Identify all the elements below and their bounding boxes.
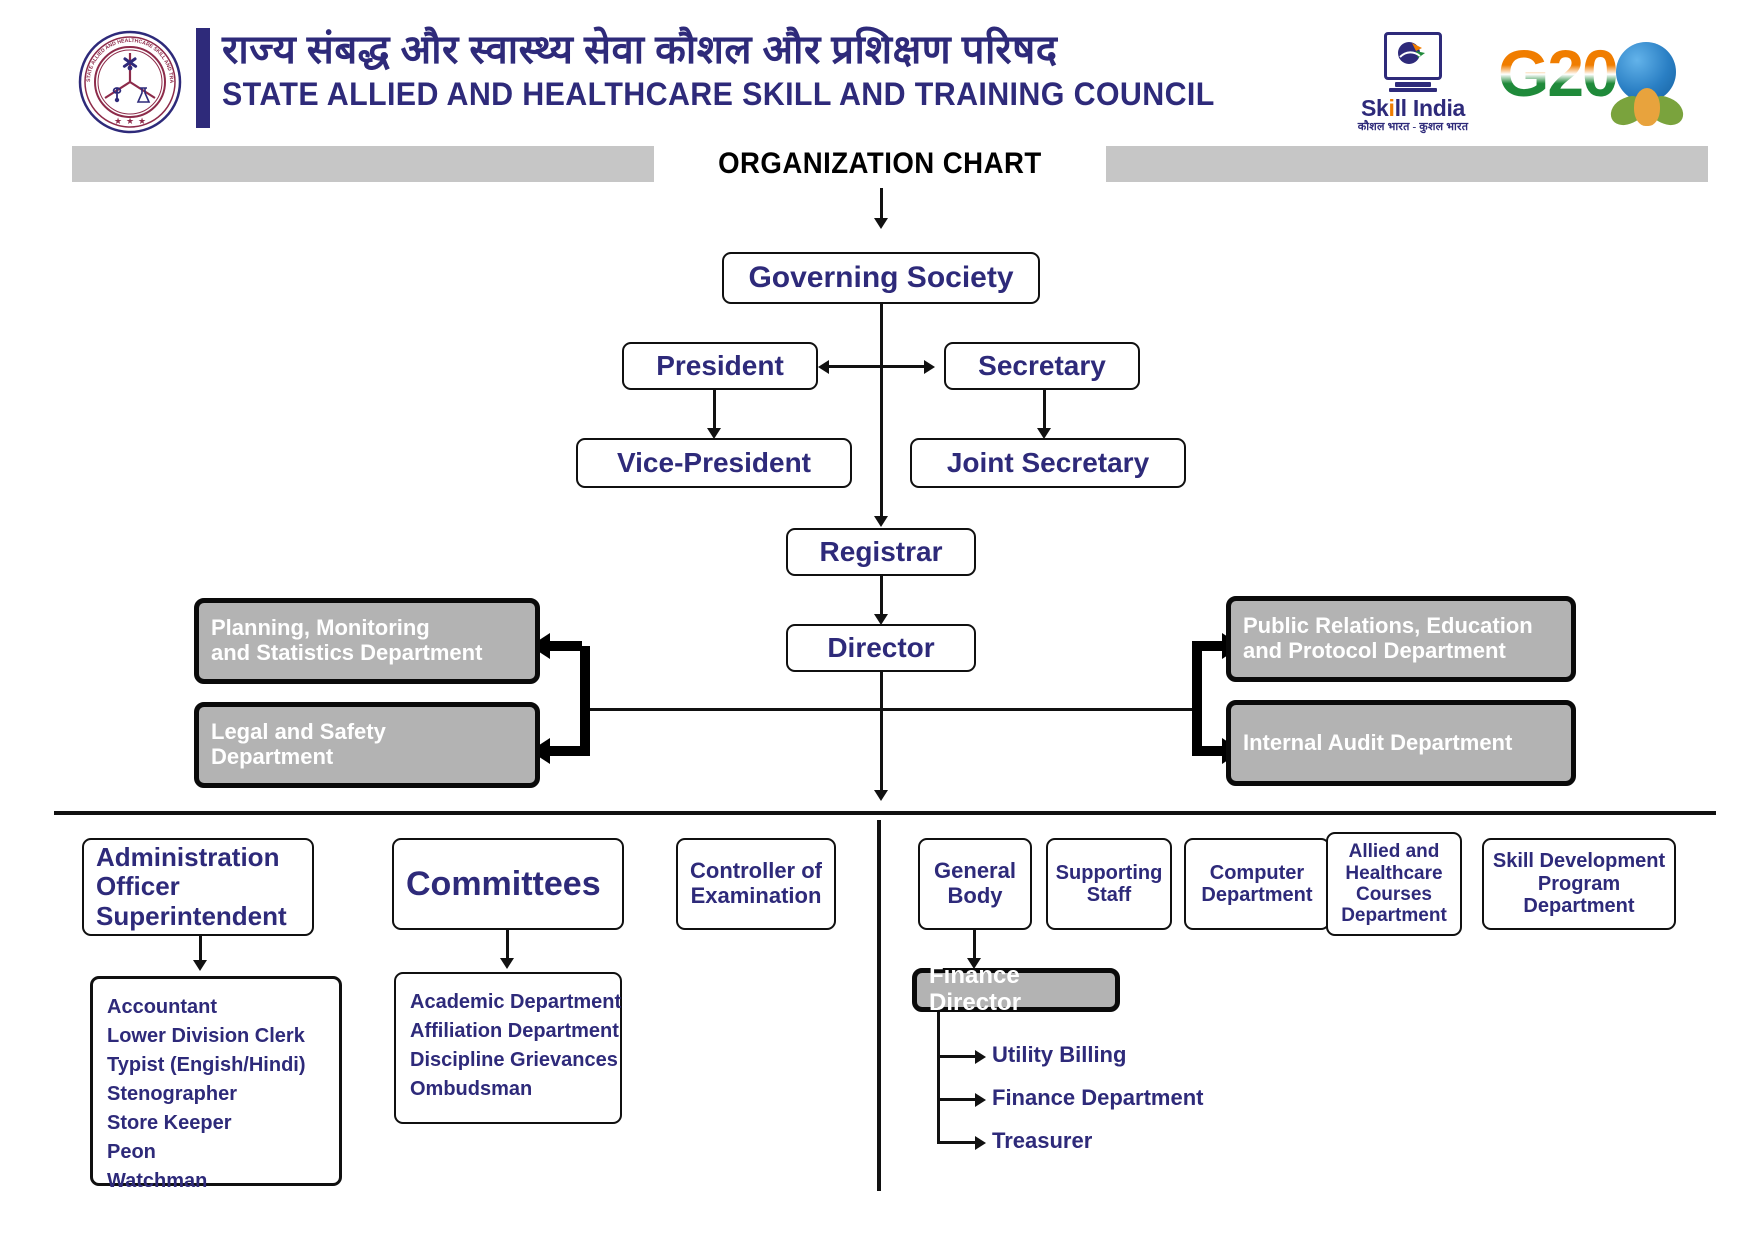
arrow-left-president bbox=[818, 360, 829, 374]
connector-band-to-governing bbox=[880, 188, 883, 220]
monitor-base bbox=[1389, 88, 1437, 92]
finance-item-finance-department[interactable]: Finance Department bbox=[992, 1085, 1204, 1111]
connector-left-elbow-vertical2 bbox=[580, 700, 590, 756]
svg-text:★: ★ bbox=[114, 116, 122, 126]
skill-dev-line2: Program Department bbox=[1484, 873, 1674, 918]
node-vice-president[interactable]: Vice-President bbox=[576, 438, 852, 488]
connector-branch-left bbox=[590, 708, 882, 711]
computer-dept-line2: Department bbox=[1201, 884, 1312, 906]
supporting-staff-line2: Staff bbox=[1056, 884, 1163, 906]
list-item: Typist (Engish/Hindi) bbox=[107, 1051, 306, 1080]
node-computer-department[interactable]: Computer Department bbox=[1184, 838, 1330, 930]
skill-india-logo: Skill India कौशल भारत - कुशल भारत bbox=[1348, 32, 1478, 136]
list-item: Ombudsman bbox=[410, 1075, 621, 1104]
finance-director-label: Finance Director bbox=[929, 963, 1115, 1017]
node-skill-development-program-department[interactable]: Skill Development Program Department bbox=[1482, 838, 1676, 930]
admin-officer-line1: Administration bbox=[96, 843, 287, 872]
list-item: Peon bbox=[107, 1138, 306, 1167]
node-registrar[interactable]: Registrar bbox=[786, 528, 976, 576]
list-item: Academic Department bbox=[410, 988, 621, 1017]
connector-finance-spine bbox=[937, 1012, 940, 1144]
planning-dept-line2: and Statistics Department bbox=[211, 641, 482, 666]
list-item: Discipline Grievances bbox=[410, 1046, 621, 1075]
arrow-right-secretary bbox=[924, 360, 935, 374]
connector-governing-spine bbox=[880, 304, 883, 520]
allied-courses-line1: Allied and bbox=[1341, 841, 1447, 862]
controller-line1: Controller of bbox=[690, 859, 822, 884]
finance-item-treasurer[interactable]: Treasurer bbox=[992, 1128, 1092, 1154]
connector-secretary-jointsecretary bbox=[1043, 390, 1046, 432]
connector-president-vicepresident bbox=[713, 390, 716, 432]
svg-text:★: ★ bbox=[138, 116, 146, 126]
list-item: Accountant bbox=[107, 993, 306, 1022]
general-body-line2: Body bbox=[934, 884, 1016, 909]
title-block: राज्य संबद्ध और स्वास्थ्य सेवा कौशल और प… bbox=[222, 26, 1242, 114]
arrow-down-committee-list bbox=[500, 958, 514, 969]
connector-left-elbow-top bbox=[548, 641, 582, 651]
list-item: Stenographer bbox=[107, 1080, 306, 1109]
title-accent-bar bbox=[196, 28, 210, 128]
connector-right-elbow-top bbox=[1192, 641, 1226, 651]
connector-branch-right bbox=[880, 708, 1202, 711]
node-president[interactable]: President bbox=[622, 342, 818, 390]
arrow-right-finance-department bbox=[975, 1093, 986, 1107]
connector-director-spine bbox=[880, 672, 883, 794]
general-body-line1: General bbox=[934, 859, 1016, 884]
finance-item-utility-billing[interactable]: Utility Billing bbox=[992, 1042, 1126, 1068]
svg-text:★: ★ bbox=[126, 116, 134, 126]
section-divider-horizontal bbox=[54, 811, 1716, 815]
administration-staff-items: Accountant Lower Division Clerk Typist (… bbox=[93, 979, 306, 1196]
controller-line2: Examination bbox=[690, 884, 822, 909]
supporting-staff-line1: Supporting bbox=[1056, 862, 1163, 884]
allied-courses-line4: Department bbox=[1341, 905, 1447, 926]
connector-left-elbow-bottom bbox=[548, 746, 582, 756]
node-allied-healthcare-courses-department[interactable]: Allied and Healthcare Courses Department bbox=[1326, 832, 1462, 936]
node-internal-audit-department[interactable]: Internal Audit Department bbox=[1226, 700, 1576, 786]
title-english: STATE ALLIED AND HEALTHCARE SKILL AND TR… bbox=[222, 74, 1191, 114]
node-finance-director[interactable]: Finance Director bbox=[912, 968, 1120, 1012]
monitor-stand bbox=[1395, 82, 1431, 87]
monitor-icon bbox=[1384, 32, 1442, 80]
list-item: Store Keeper bbox=[107, 1109, 306, 1138]
node-supporting-staff[interactable]: Supporting Staff bbox=[1046, 838, 1172, 930]
committees-label: Committees bbox=[406, 865, 601, 903]
lotus-petal-center bbox=[1634, 88, 1660, 126]
node-legal-safety-department[interactable]: Legal and Safety Department bbox=[194, 702, 540, 788]
page-title-text: ORGANIZATION CHART bbox=[718, 147, 1042, 181]
node-controller-of-examination[interactable]: Controller of Examination bbox=[676, 838, 836, 930]
node-administration-staff-list[interactable]: Accountant Lower Division Clerk Typist (… bbox=[90, 976, 342, 1186]
skill-india-wordmark: Skill India bbox=[1348, 95, 1478, 121]
list-item: Lower Division Clerk bbox=[107, 1022, 306, 1051]
arrow-right-utility-billing bbox=[975, 1050, 986, 1064]
computer-dept-line1: Computer bbox=[1201, 862, 1312, 884]
arrow-down-divider bbox=[874, 790, 888, 801]
connector-registrar-director bbox=[880, 576, 883, 618]
node-governing-society[interactable]: Governing Society bbox=[722, 252, 1040, 304]
legal-dept-line1: Legal and Safety bbox=[211, 720, 386, 745]
node-joint-secretary[interactable]: Joint Secretary bbox=[910, 438, 1186, 488]
connector-president-secretary bbox=[828, 365, 932, 368]
node-committees[interactable]: Committees bbox=[392, 838, 624, 930]
title-hindi: राज्य संबद्ध और स्वास्थ्य सेवा कौशल और प… bbox=[222, 26, 1242, 74]
list-item: Watchman bbox=[107, 1167, 306, 1196]
arrow-right-treasurer bbox=[975, 1136, 986, 1150]
public-relations-line2: and Protocol Department bbox=[1243, 639, 1533, 664]
skill-india-tagline: कौशल भारत - कुशल भारत bbox=[1348, 121, 1478, 134]
page-header: STATE ALLIED AND HEALTHCARE SKILL AND TR… bbox=[0, 0, 1754, 145]
internal-audit-label: Internal Audit Department bbox=[1243, 731, 1512, 756]
node-director[interactable]: Director bbox=[786, 624, 976, 672]
allied-courses-line2: Healthcare bbox=[1341, 863, 1447, 884]
node-general-body[interactable]: General Body bbox=[918, 838, 1032, 930]
connector-right-elbow-bottom bbox=[1192, 746, 1226, 756]
node-planning-monitoring-statistics-department[interactable]: Planning, Monitoring and Statistics Depa… bbox=[194, 598, 540, 684]
arrow-down-registrar bbox=[874, 516, 888, 527]
arrow-down-admin-staff bbox=[193, 960, 207, 971]
node-public-relations-education-protocol-department[interactable]: Public Relations, Education and Protocol… bbox=[1226, 596, 1576, 682]
node-administration-officer-superintendent[interactable]: Administration Officer Superintendent bbox=[82, 838, 314, 936]
public-relations-line1: Public Relations, Education bbox=[1243, 614, 1533, 639]
admin-officer-line3: Superintendent bbox=[96, 902, 287, 931]
skill-dev-line1: Skill Development bbox=[1484, 850, 1674, 872]
council-seal-icon: STATE ALLIED AND HEALTHCARE SKILL AND TR… bbox=[78, 30, 182, 134]
planning-dept-line1: Planning, Monitoring bbox=[211, 616, 482, 641]
node-secretary[interactable]: Secretary bbox=[944, 342, 1140, 390]
g20-wordmark: G20 bbox=[1498, 40, 1617, 106]
arrow-down-governing bbox=[874, 218, 888, 229]
list-item: Affiliation Department bbox=[410, 1017, 621, 1046]
allied-courses-line3: Courses bbox=[1341, 884, 1447, 905]
page-title: ORGANIZATION CHART bbox=[654, 144, 1106, 184]
section-divider-vertical bbox=[877, 820, 881, 1191]
admin-officer-line2: Officer bbox=[96, 872, 287, 901]
node-committee-list[interactable]: Academic Department Affiliation Departme… bbox=[394, 972, 622, 1124]
g20-logo: G20 bbox=[1498, 36, 1718, 132]
legal-dept-line2: Department bbox=[211, 745, 386, 770]
committee-items: Academic Department Affiliation Departme… bbox=[396, 974, 621, 1104]
